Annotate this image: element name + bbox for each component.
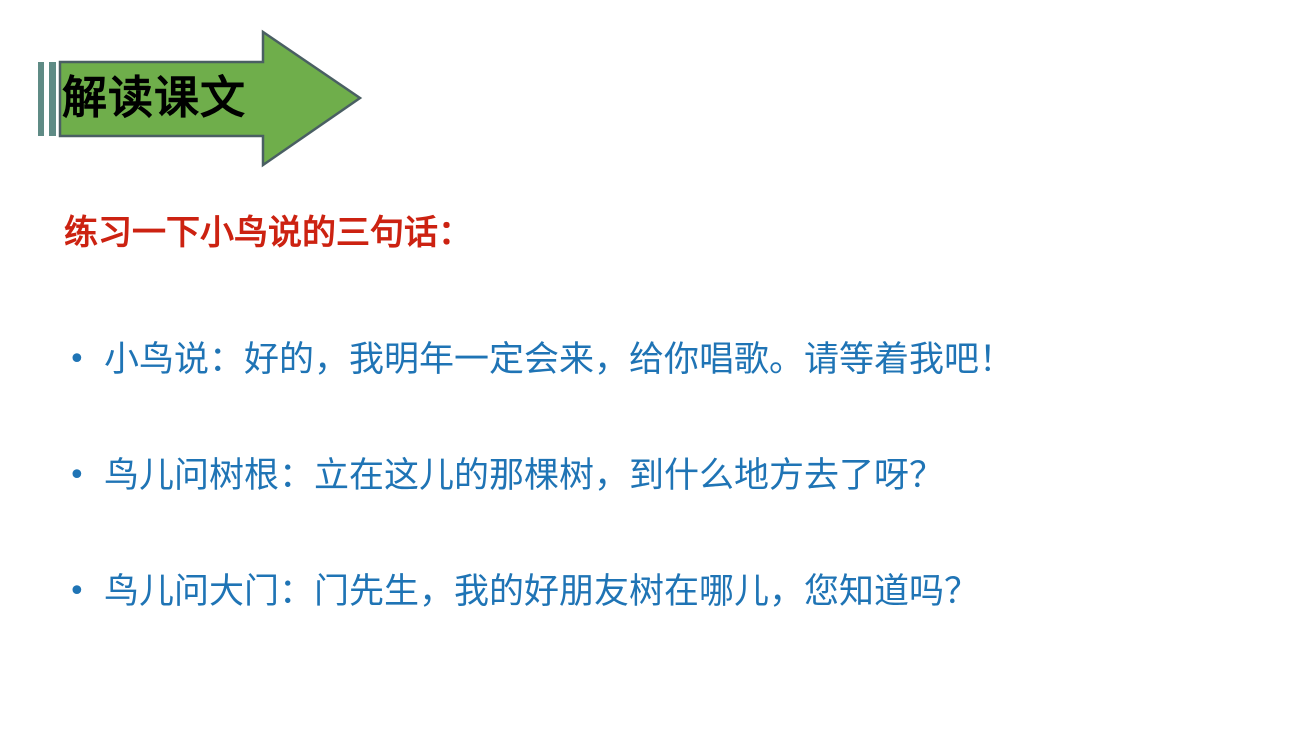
slide-canvas: 解读课文 练习一下小鸟说的三句话： • 小鸟说：好的，我明年一定会来，给你唱歌。… <box>0 0 1296 729</box>
list-item: • 鸟儿问大门：门先生，我的好朋友树在哪儿，您知道吗？ <box>62 566 1272 682</box>
bullet-dot-icon: • <box>62 566 104 618</box>
section-header-banner: 解读课文 <box>30 24 390 174</box>
accent-bar-1 <box>38 62 44 136</box>
instruction-heading: 练习一下小鸟说的三句话： <box>64 209 472 257</box>
list-item-text: 鸟儿问树根：立在这儿的那棵树，到什么地方去了呀？ <box>104 450 1272 502</box>
list-item-text: 鸟儿问大门：门先生，我的好朋友树在哪儿，您知道吗？ <box>104 566 1272 618</box>
bullet-dot-icon: • <box>62 450 104 502</box>
accent-bars <box>30 62 58 136</box>
section-title: 解读课文 <box>62 64 246 132</box>
bullet-dot-icon: • <box>62 334 104 386</box>
list-item: • 鸟儿问树根：立在这儿的那棵树，到什么地方去了呀？ <box>62 450 1272 566</box>
list-item: • 小鸟说：好的，我明年一定会来，给你唱歌。请等着我吧！ <box>62 334 1272 450</box>
sentence-bullet-list: • 小鸟说：好的，我明年一定会来，给你唱歌。请等着我吧！ • 鸟儿问树根：立在这… <box>62 334 1272 682</box>
accent-bar-2 <box>49 62 56 136</box>
list-item-text: 小鸟说：好的，我明年一定会来，给你唱歌。请等着我吧！ <box>104 334 1272 386</box>
